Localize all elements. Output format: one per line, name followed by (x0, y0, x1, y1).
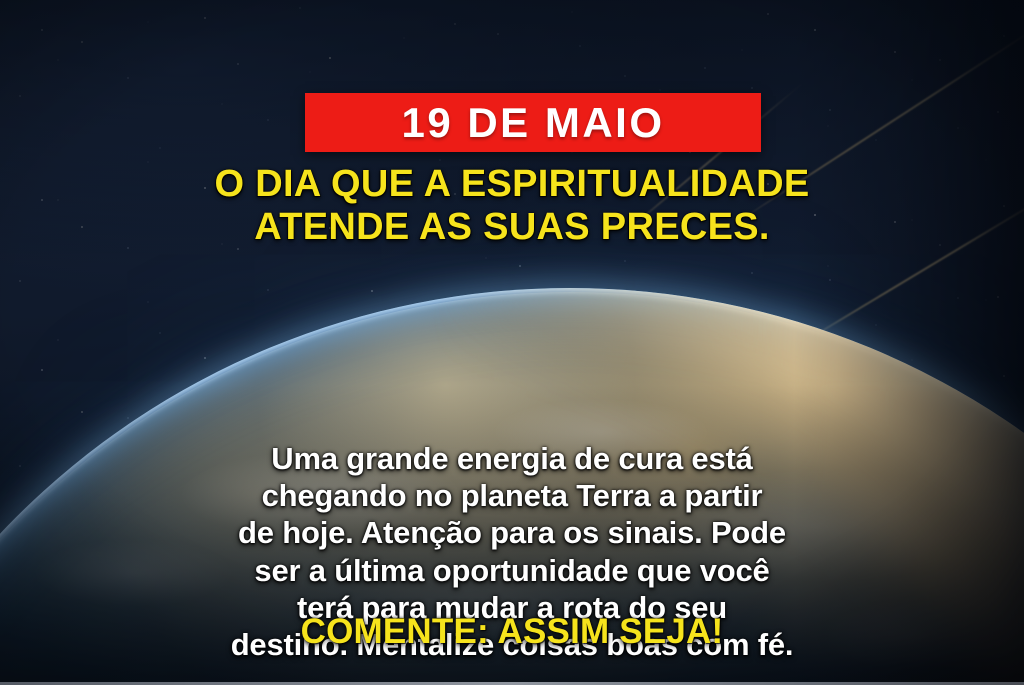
headline-line-2: ATENDE AS SUAS PRECES. (0, 206, 1024, 249)
body-copy-line-3: de hoje. Atenção para os sinais. Pode (52, 514, 972, 551)
poster-image: 19 DE MAIO O DIA QUE A ESPIRITUALIDADE A… (0, 0, 1024, 685)
body-copy-line-2: chegando no planeta Terra a partir (52, 477, 972, 514)
headline-line-1: O DIA QUE A ESPIRITUALIDADE (0, 163, 1024, 206)
call-to-action-label: COMENTE: ASSIM SEJA! (0, 614, 1024, 649)
headline: O DIA QUE A ESPIRITUALIDADE ATENDE AS SU… (0, 163, 1024, 250)
body-copy-line-4: ser a última oportunidade que você (52, 552, 972, 589)
poster-content: 19 DE MAIO O DIA QUE A ESPIRITUALIDADE A… (0, 0, 1024, 685)
body-copy-line-1: Uma grande energia de cura está (52, 440, 972, 477)
date-banner: 19 DE MAIO (305, 93, 761, 152)
date-banner-label: 19 DE MAIO (401, 102, 664, 144)
